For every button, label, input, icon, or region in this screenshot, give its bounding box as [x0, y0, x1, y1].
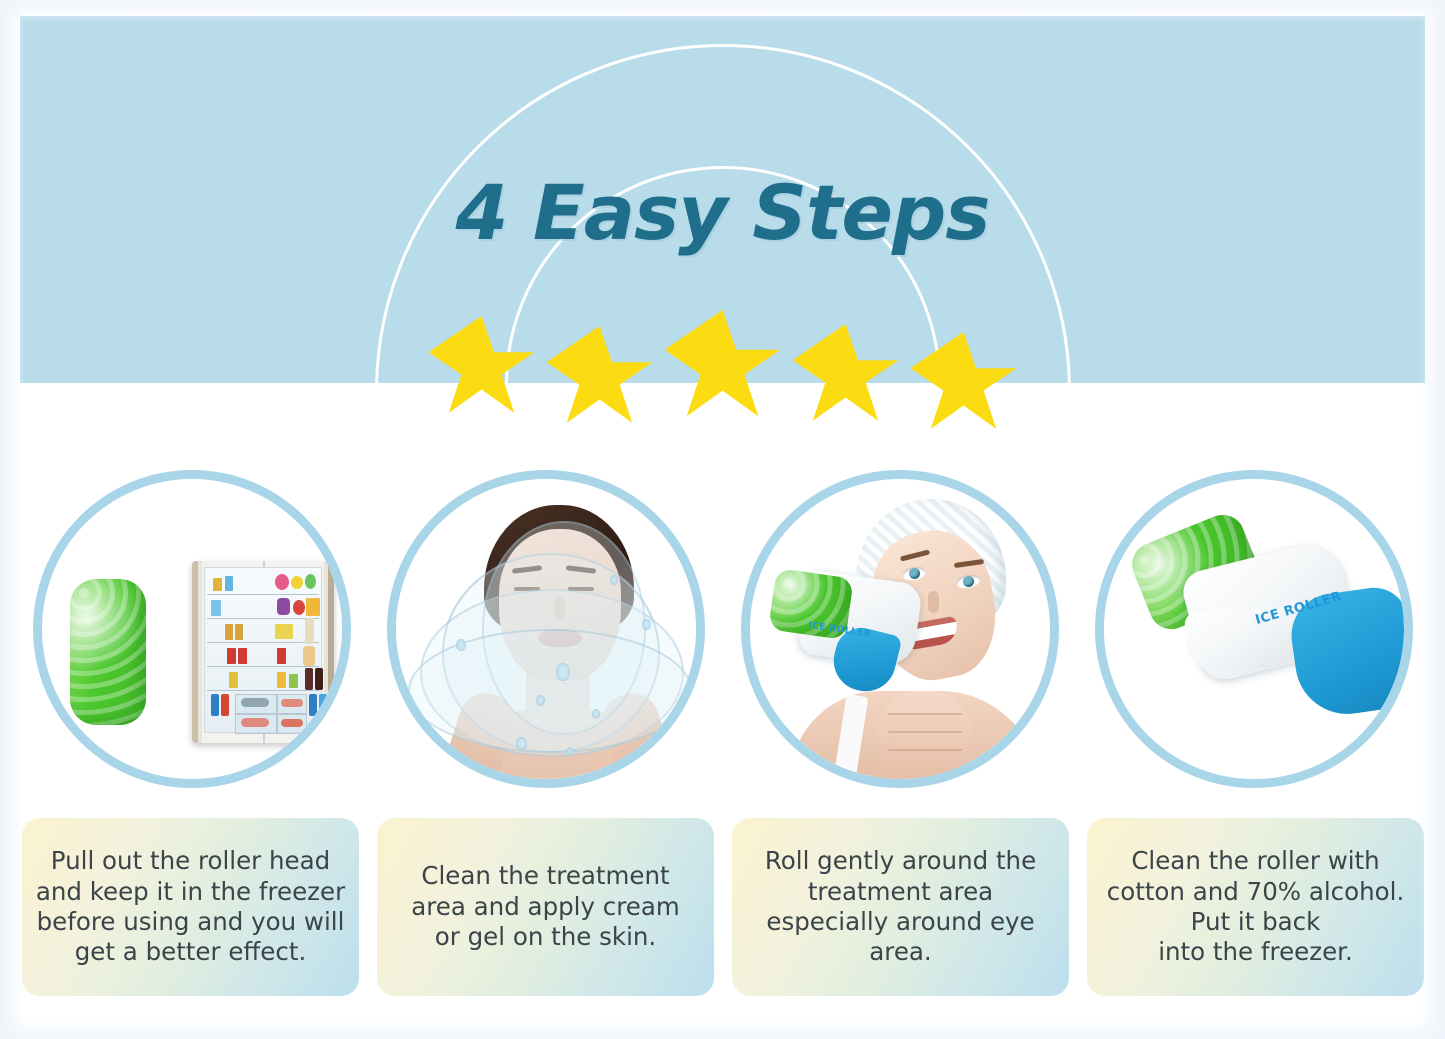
fridge-shelf [207, 666, 319, 667]
fridge-shelf [207, 642, 319, 643]
fridge-item [211, 600, 221, 616]
fridge-item [309, 694, 317, 716]
knuckle-line [888, 749, 962, 751]
refrigerator-icon [192, 561, 334, 743]
page-title: 4 Easy Steps [0, 168, 1445, 257]
step-3-image-circle: ICE ROLLER [741, 470, 1059, 788]
fridge-item [275, 574, 289, 590]
step-2-illustration [396, 479, 696, 779]
caption-card-3: Roll gently around the treatment area es… [732, 818, 1069, 996]
fridge-item [305, 618, 314, 644]
water-splash [408, 629, 692, 753]
easy-steps-poster: 4 Easy Steps [0, 0, 1445, 1039]
iris [909, 568, 920, 579]
step-3: ICE ROLLER [730, 470, 1070, 788]
fridge-item [289, 674, 298, 688]
caption-text-2: Clean the treatment area and apply cream… [411, 861, 679, 952]
step-1-image-circle [33, 470, 351, 788]
water-droplet [610, 575, 618, 585]
step-1-illustration [42, 479, 342, 779]
fridge-item [315, 668, 323, 690]
step-2 [376, 470, 716, 788]
fridge-item [211, 694, 219, 716]
fridge-item [303, 646, 315, 666]
fridge-item [213, 578, 222, 591]
fridge-shelf [207, 594, 319, 595]
water-droplet [556, 663, 570, 681]
water-droplet [536, 695, 545, 706]
water-droplet [592, 709, 600, 719]
nose [928, 591, 939, 613]
step-2-image-circle [387, 470, 705, 788]
fridge-item [313, 598, 320, 616]
caption-card-2: Clean the treatment area and apply cream… [377, 818, 714, 996]
fridge-item-fish [241, 698, 269, 707]
fridge-item [227, 648, 236, 664]
fridge-item [277, 672, 286, 688]
hand-fist [878, 691, 972, 779]
knuckle-line [888, 731, 962, 733]
fridge-item-meat [281, 719, 303, 727]
step-1 [22, 470, 362, 788]
step-3-illustration: ICE ROLLER [750, 479, 1050, 779]
fridge-item [305, 574, 316, 589]
fridge-item [305, 668, 313, 690]
water-droplet [642, 619, 651, 630]
fridge-item [291, 576, 303, 589]
caption-text-1: Pull out the roller head and keep it in … [36, 846, 345, 968]
caption-text-4: Clean the roller with cotton and 70% alc… [1107, 846, 1405, 968]
fridge-cavity [204, 567, 322, 733]
fridge-item [277, 648, 286, 664]
iris [963, 576, 974, 587]
fridge-item [275, 624, 293, 639]
step-4-image-circle: ICE ROLLER [1095, 470, 1413, 788]
fridge-item [238, 648, 247, 664]
caption-card-4: Clean the roller with cotton and 70% alc… [1087, 818, 1424, 996]
step-captions-row: Pull out the roller head and keep it in … [22, 818, 1424, 996]
fridge-item-meat [281, 699, 303, 707]
knuckle-line [888, 713, 962, 715]
step-4-illustration: ICE ROLLER [1104, 479, 1404, 779]
fridge-item [225, 624, 233, 640]
fridge-item [277, 598, 290, 615]
fridge-item [306, 598, 313, 616]
caption-card-1: Pull out the roller head and keep it in … [22, 818, 359, 996]
water-droplet [566, 747, 574, 756]
step-images-row: ICE ROLLER ICE ROLLER [22, 470, 1424, 788]
fridge-item [319, 694, 327, 716]
fridge-item [221, 694, 229, 716]
caption-text-3: Roll gently around the treatment area es… [765, 846, 1036, 968]
water-droplet [456, 639, 466, 651]
fridge-shelf [207, 618, 319, 619]
step-4: ICE ROLLER [1084, 470, 1424, 788]
fridge-item [293, 600, 305, 615]
fridge-item [225, 576, 233, 591]
roller-head-icon [70, 579, 146, 725]
fridge-item [235, 624, 243, 640]
fridge-shelf [207, 690, 319, 691]
fridge-item-meat [241, 718, 269, 727]
water-droplet [516, 737, 527, 750]
fridge-item [229, 672, 238, 688]
